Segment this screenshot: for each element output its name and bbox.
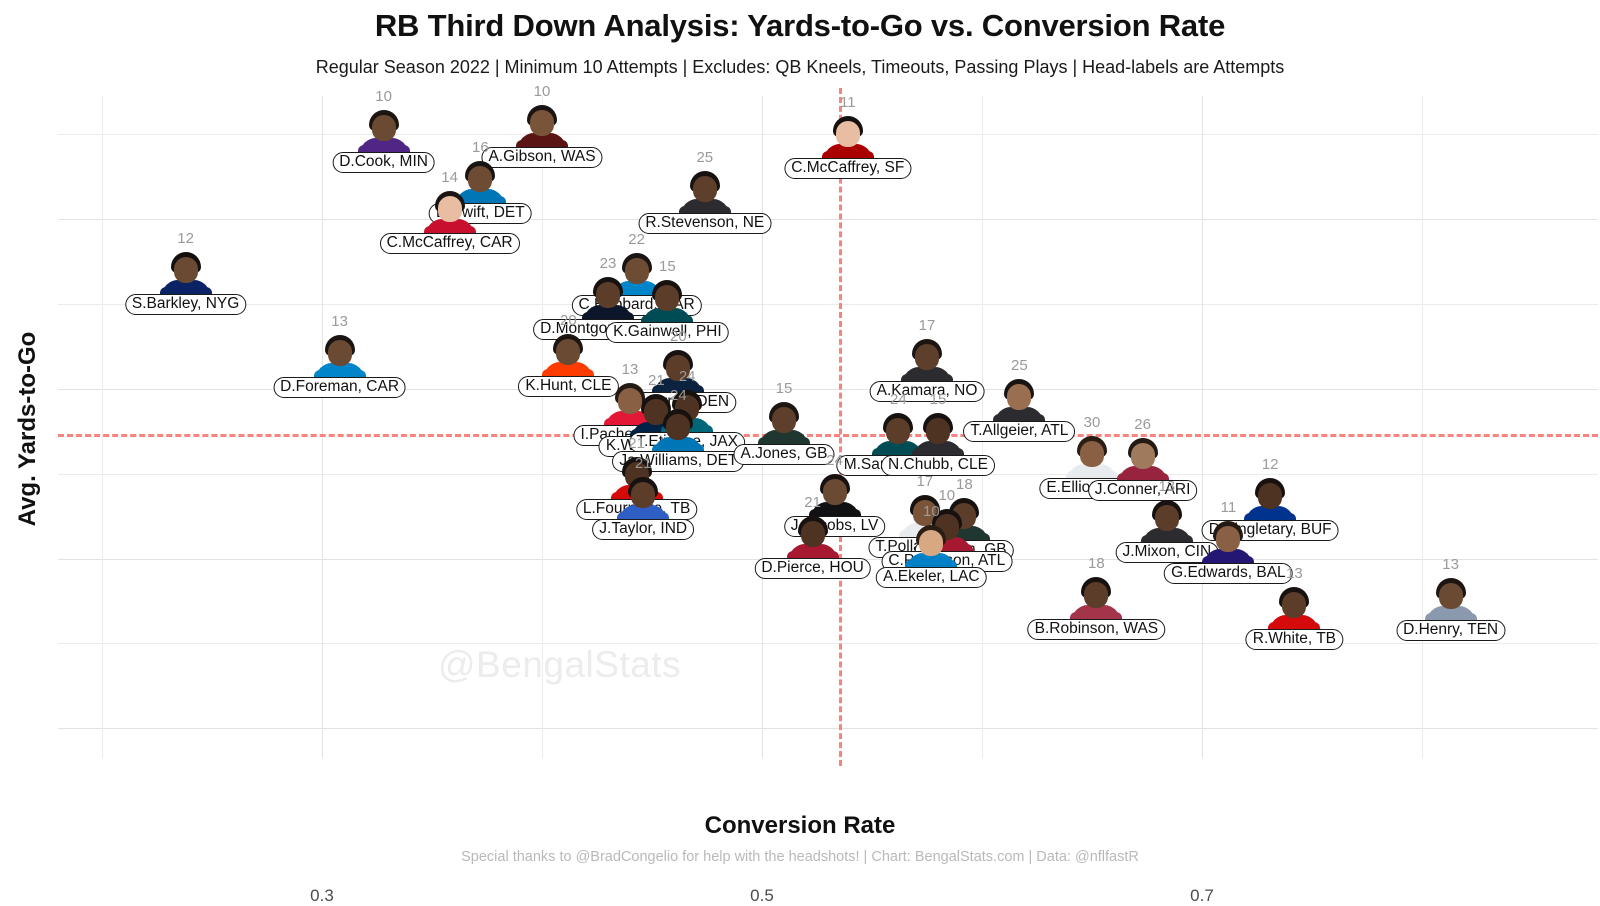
player-name-label[interactable]: B.Robinson, WAS	[1028, 619, 1165, 640]
attempts-head-label: 10	[354, 88, 414, 105]
chart-root: RB Third Down Analysis: Yards-to-Go vs. …	[0, 0, 1600, 900]
attempts-head-label: 14	[420, 169, 480, 186]
attempts-head-label: 20	[538, 312, 598, 329]
x-axis-title: Conversion Rate	[0, 812, 1600, 840]
player-headshot-icon	[641, 278, 693, 328]
attempts-head-label: 21	[783, 494, 843, 511]
player-headshot-icon	[1066, 434, 1118, 484]
player-headshot-icon	[424, 189, 476, 239]
player-headshot-icon	[787, 514, 839, 564]
player-headshot-icon	[1268, 585, 1320, 635]
attempts-head-label: 15	[637, 258, 697, 275]
x-tick-label: 0.5	[722, 886, 802, 906]
y-axis-title: Avg. Yards-to-Go	[14, 219, 42, 639]
attempts-head-label: 17	[897, 317, 957, 334]
player-headshot-icon	[1141, 498, 1193, 548]
player-headshot-icon	[1070, 575, 1122, 625]
player-name-label[interactable]: C.McCaffrey, SF	[784, 158, 911, 179]
player-headshot-icon	[679, 169, 731, 219]
attempts-head-label: 24	[648, 387, 708, 404]
player-headshot-icon	[516, 103, 568, 153]
player-name-label[interactable]: T.Allgeier, ATL	[963, 421, 1075, 442]
chart-caption: Special thanks to @BradCongelio for help…	[0, 849, 1600, 865]
chart-title: RB Third Down Analysis: Yards-to-Go vs. …	[0, 8, 1600, 44]
gridline-horizontal-minor	[58, 643, 1598, 644]
gridline-horizontal	[58, 728, 1598, 729]
player-headshot-icon	[358, 108, 410, 158]
player-headshot-icon	[912, 411, 964, 461]
player-name-label[interactable]: D.Pierce, HOU	[754, 558, 871, 579]
player-headshot-icon	[160, 250, 212, 300]
player-headshot-icon	[758, 400, 810, 450]
attempts-head-label: 25	[675, 149, 735, 166]
gridline-horizontal	[58, 219, 1598, 220]
attempts-head-label: 13	[1137, 478, 1197, 495]
attempts-head-label: 16	[450, 139, 510, 156]
player-headshot-icon	[1425, 576, 1477, 626]
player-headshot-icon	[617, 475, 669, 525]
player-headshot-icon	[901, 337, 953, 387]
player-headshot-icon	[314, 333, 366, 383]
gridline-vertical	[1202, 96, 1203, 758]
chart-subtitle: Regular Season 2022 | Minimum 10 Attempt…	[0, 57, 1600, 78]
plot-area: @BengalStats 10D.Cook, MIN10A.Gibson, WA…	[58, 96, 1598, 758]
reference-line-horizontal	[58, 434, 1598, 437]
player-headshot-icon	[993, 377, 1045, 427]
gridline-horizontal-minor	[58, 304, 1598, 305]
attempts-head-label: 15	[908, 391, 968, 408]
attempts-head-label: 22	[607, 231, 667, 248]
gridline-vertical	[322, 96, 323, 758]
x-tick-label: 0.3	[282, 886, 362, 906]
attempts-head-label: 25	[989, 357, 1049, 374]
attempts-head-label: 24	[657, 368, 717, 385]
attempts-head-label: 18	[1066, 555, 1126, 572]
attempts-head-label: 11	[818, 94, 878, 111]
player-name-label[interactable]: A.Ekeler, LAC	[876, 567, 987, 588]
player-name-label[interactable]: D.Foreman, CAR	[273, 377, 406, 398]
player-name-label[interactable]: R.White, TB	[1246, 629, 1343, 650]
gridline-vertical-minor	[102, 96, 103, 758]
gridline-vertical-minor	[1422, 96, 1423, 758]
player-headshot-icon	[542, 332, 594, 382]
attempts-head-label: 12	[156, 230, 216, 247]
watermark: @BengalStats	[438, 644, 681, 686]
attempts-head-label: 15	[754, 380, 814, 397]
reference-line-vertical	[839, 88, 842, 766]
attempts-head-label: 11	[1198, 499, 1258, 516]
attempts-head-label: 10	[901, 503, 961, 520]
attempts-head-label: 13	[1421, 556, 1481, 573]
attempts-head-label: 13	[310, 313, 370, 330]
player-name-label[interactable]: J.Taylor, IND	[592, 519, 694, 540]
player-name-label[interactable]: S.Barkley, NYG	[125, 294, 246, 315]
x-tick-label: 0.7	[1162, 886, 1242, 906]
attempts-head-label: 13	[1264, 565, 1324, 582]
attempts-head-label: 24	[805, 452, 865, 469]
attempts-head-label: 20	[648, 328, 708, 345]
player-headshot-icon	[822, 114, 874, 164]
attempts-head-label: 21	[607, 435, 667, 452]
attempts-head-label: 21	[613, 455, 673, 472]
attempts-head-label: 10	[917, 487, 977, 504]
attempts-head-label: 12	[1240, 456, 1300, 473]
player-headshot-icon	[1202, 519, 1254, 569]
player-name-label[interactable]: C.McCaffrey, CAR	[380, 233, 520, 254]
attempts-head-label: 23	[578, 255, 638, 272]
player-headshot-icon	[905, 523, 957, 573]
player-name-label[interactable]: D.Henry, TEN	[1396, 620, 1505, 641]
attempts-head-label: 10	[512, 83, 572, 100]
attempts-head-label: 26	[1113, 416, 1173, 433]
